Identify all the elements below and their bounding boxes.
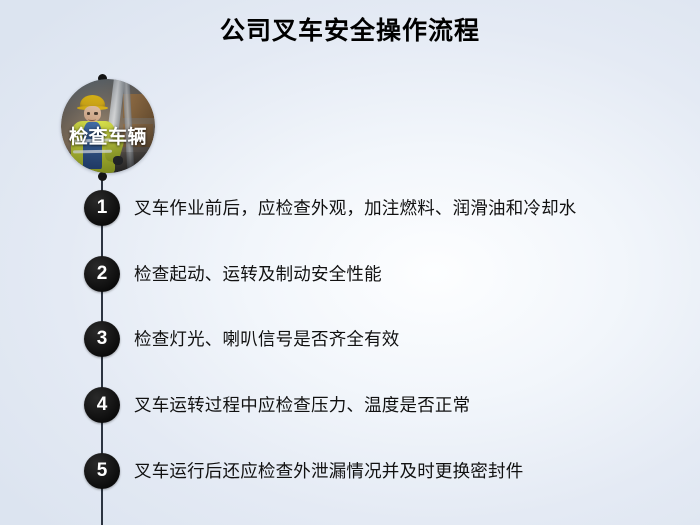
step-number-badge: 1 (84, 190, 120, 226)
step-text: 叉车作业前后，应检查外观，加注燃料、润滑油和冷却水 (134, 192, 577, 224)
step-item-4[interactable]: 4 叉车运转过程中应检查压力、温度是否正常 (0, 387, 700, 427)
step-text: 检查起动、运转及制动安全性能 (134, 258, 382, 290)
step-number-badge: 3 (84, 321, 120, 357)
connector-dot-middle (98, 172, 107, 181)
step-item-3[interactable]: 3 检查灯光、喇叭信号是否齐全有效 (0, 321, 700, 361)
step-item-1[interactable]: 1 叉车作业前后，应检查外观，加注燃料、润滑油和冷却水 (0, 190, 700, 230)
step-item-5[interactable]: 5 叉车运行后还应检查外泄漏情况并及时更换密封件 (0, 453, 700, 493)
photo-node[interactable]: 检查车辆 (61, 79, 155, 173)
step-text: 叉车运行后还应检查外泄漏情况并及时更换密封件 (134, 455, 523, 487)
step-item-2[interactable]: 2 检查起动、运转及制动安全性能 (0, 256, 700, 296)
step-number-badge: 5 (84, 453, 120, 489)
photo-node-label: 检查车辆 (61, 122, 155, 149)
step-text: 叉车运转过程中应检查压力、温度是否正常 (134, 389, 470, 421)
step-number-badge: 2 (84, 256, 120, 292)
step-text: 检查灯光、喇叭信号是否齐全有效 (134, 323, 400, 355)
slide-canvas: 公司叉车安全操作流程 检查车辆 1 叉车作业前 (0, 0, 700, 525)
page-title: 公司叉车安全操作流程 (0, 14, 700, 48)
step-number-badge: 4 (84, 387, 120, 423)
